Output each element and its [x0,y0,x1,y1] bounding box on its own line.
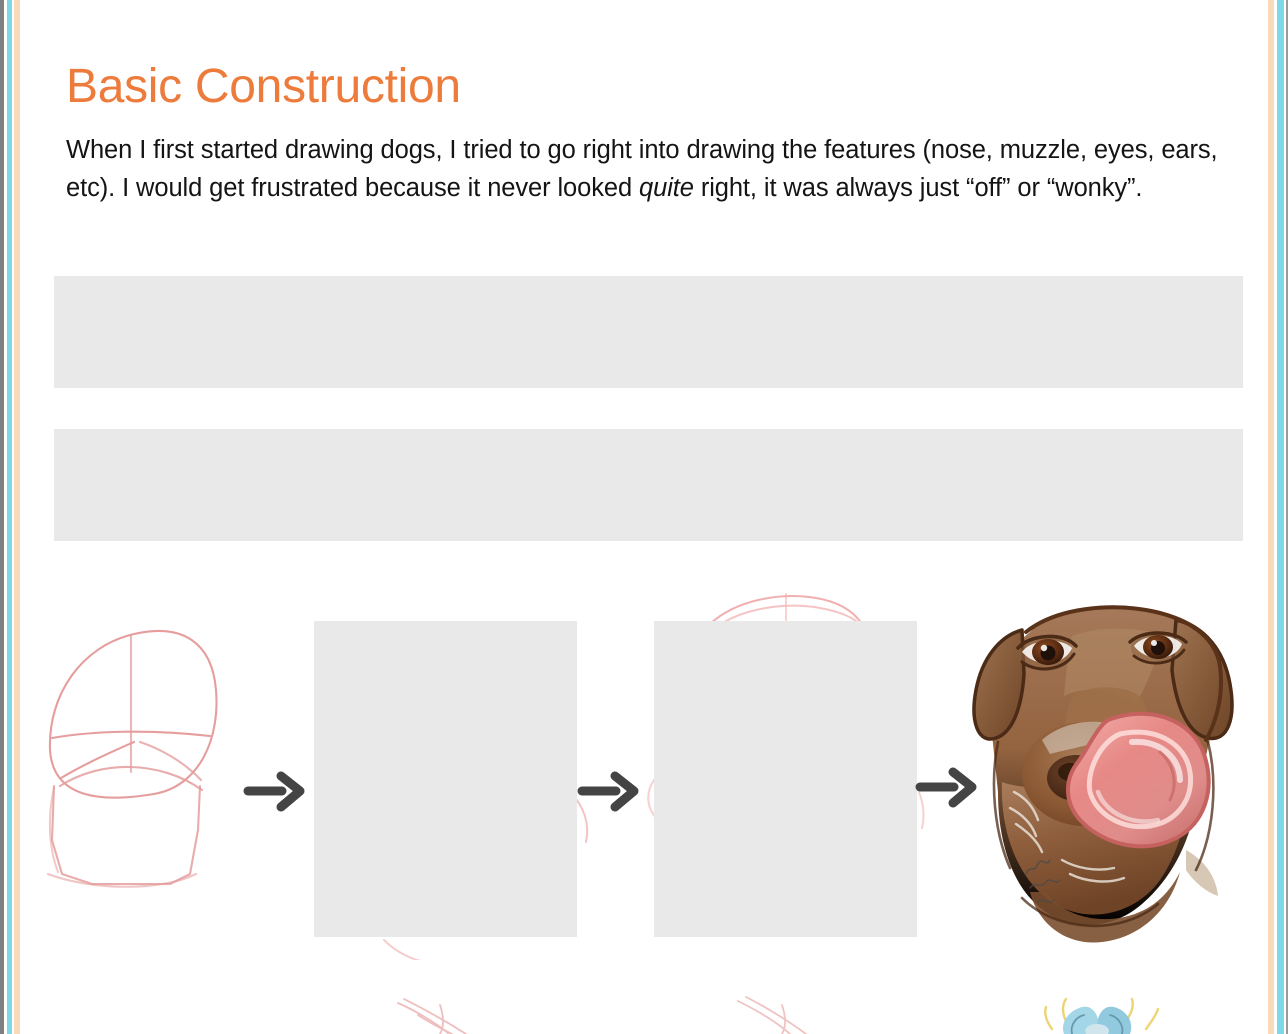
body-text-part-2: right, it was always just “off” or “wonk… [694,174,1143,202]
construction-sketch-svg [30,590,280,910]
finished-dog-drawing [960,592,1250,952]
wide-placeholder-1 [54,276,1243,388]
slide-content: Basic Construction When I first started … [0,0,1288,1034]
next-row-sketches-svg [0,985,1288,1034]
dog-illustration-svg [960,592,1250,952]
page-title: Basic Construction [66,58,461,116]
step-2-placeholder [314,621,577,937]
wide-placeholder-2 [54,429,1243,541]
slide-canvas: Basic Construction When I first started … [0,0,1288,1034]
step-3-placeholder [654,621,917,937]
arrow-right-icon [574,762,646,820]
construction-sketch-step-1 [30,590,280,910]
step-arrow-2-icon [574,762,646,820]
body-text-emphasis: quite [639,174,694,202]
body-paragraph: When I first started drawing dogs, I tri… [66,132,1236,207]
next-row-sketches-cutoff [0,985,1288,1034]
